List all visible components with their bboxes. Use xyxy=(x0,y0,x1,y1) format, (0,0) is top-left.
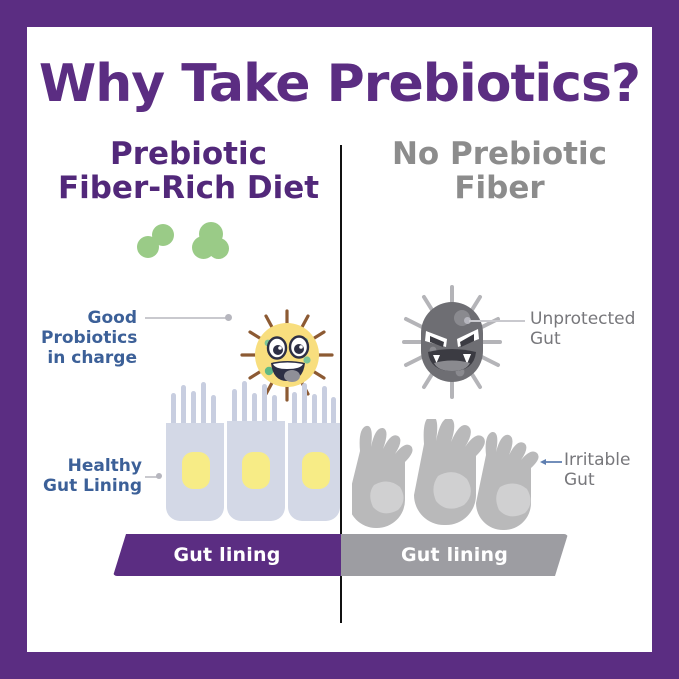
left-heading-line2: Fiber-Rich Diet xyxy=(37,171,340,205)
irritable-gut-label: Irritable Gut xyxy=(564,450,652,490)
irritable-gut-label-line2: Gut xyxy=(564,470,652,490)
page-title: Why Take Prebiotics? xyxy=(27,54,652,114)
healthy-gut-lining-label-line1: Healthy xyxy=(37,456,142,476)
healthy-gut-cells-icon xyxy=(154,377,340,529)
broccoli-fiber-icon xyxy=(137,222,247,264)
unprotected-gut-label-line2: Gut xyxy=(530,329,648,349)
irritable-gut-arrow-icon xyxy=(540,456,562,468)
right-heading-line2: Fiber xyxy=(352,171,647,205)
right-heading-line1: No Prebiotic xyxy=(352,137,647,171)
fiber-dot xyxy=(199,222,223,246)
gut-lining-ribbon-right: Gut lining xyxy=(341,534,568,576)
unprotected-gut-label-line1: Unprotected xyxy=(530,309,648,329)
unprotected-gut-label: Unprotected Gut xyxy=(530,309,648,349)
good-probiotics-label-line1: Good xyxy=(41,308,137,328)
fiber-dot xyxy=(152,224,174,246)
infographic-poster: Why Take Prebiotics? Prebiotic Fiber-Ric… xyxy=(0,0,679,679)
good-probiotics-connector-line xyxy=(145,317,227,319)
healthy-gut-lining-label: Healthy Gut Lining xyxy=(37,456,142,496)
good-probiotics-label: Good Probiotics in charge xyxy=(41,308,137,368)
left-heading-line1: Prebiotic xyxy=(37,137,340,171)
angry-pathogen-icon xyxy=(400,283,504,401)
gut-lining-ribbon: Gut lining Gut lining xyxy=(113,534,568,576)
gut-lining-ribbon-right-label: Gut lining xyxy=(401,544,508,566)
healthy-gut-lining-label-line2: Gut Lining xyxy=(37,476,142,496)
right-column-heading: No Prebiotic Fiber xyxy=(352,137,647,205)
good-probiotics-connector-dot xyxy=(225,314,232,321)
left-column-heading: Prebiotic Fiber-Rich Diet xyxy=(37,137,340,205)
irritable-gut-label-line1: Irritable xyxy=(564,450,652,470)
gut-lining-ribbon-left: Gut lining xyxy=(113,534,341,576)
damaged-gut-cells-icon xyxy=(352,419,552,531)
poster-canvas: Why Take Prebiotics? Prebiotic Fiber-Ric… xyxy=(27,27,652,652)
unprotected-gut-connector-line xyxy=(469,320,525,322)
healthy-gut-lining-connector-dot xyxy=(156,473,162,479)
good-probiotics-label-line2: Probiotics xyxy=(41,328,137,348)
gut-lining-ribbon-left-label: Gut lining xyxy=(173,544,280,566)
good-probiotics-label-line3: in charge xyxy=(41,348,137,368)
